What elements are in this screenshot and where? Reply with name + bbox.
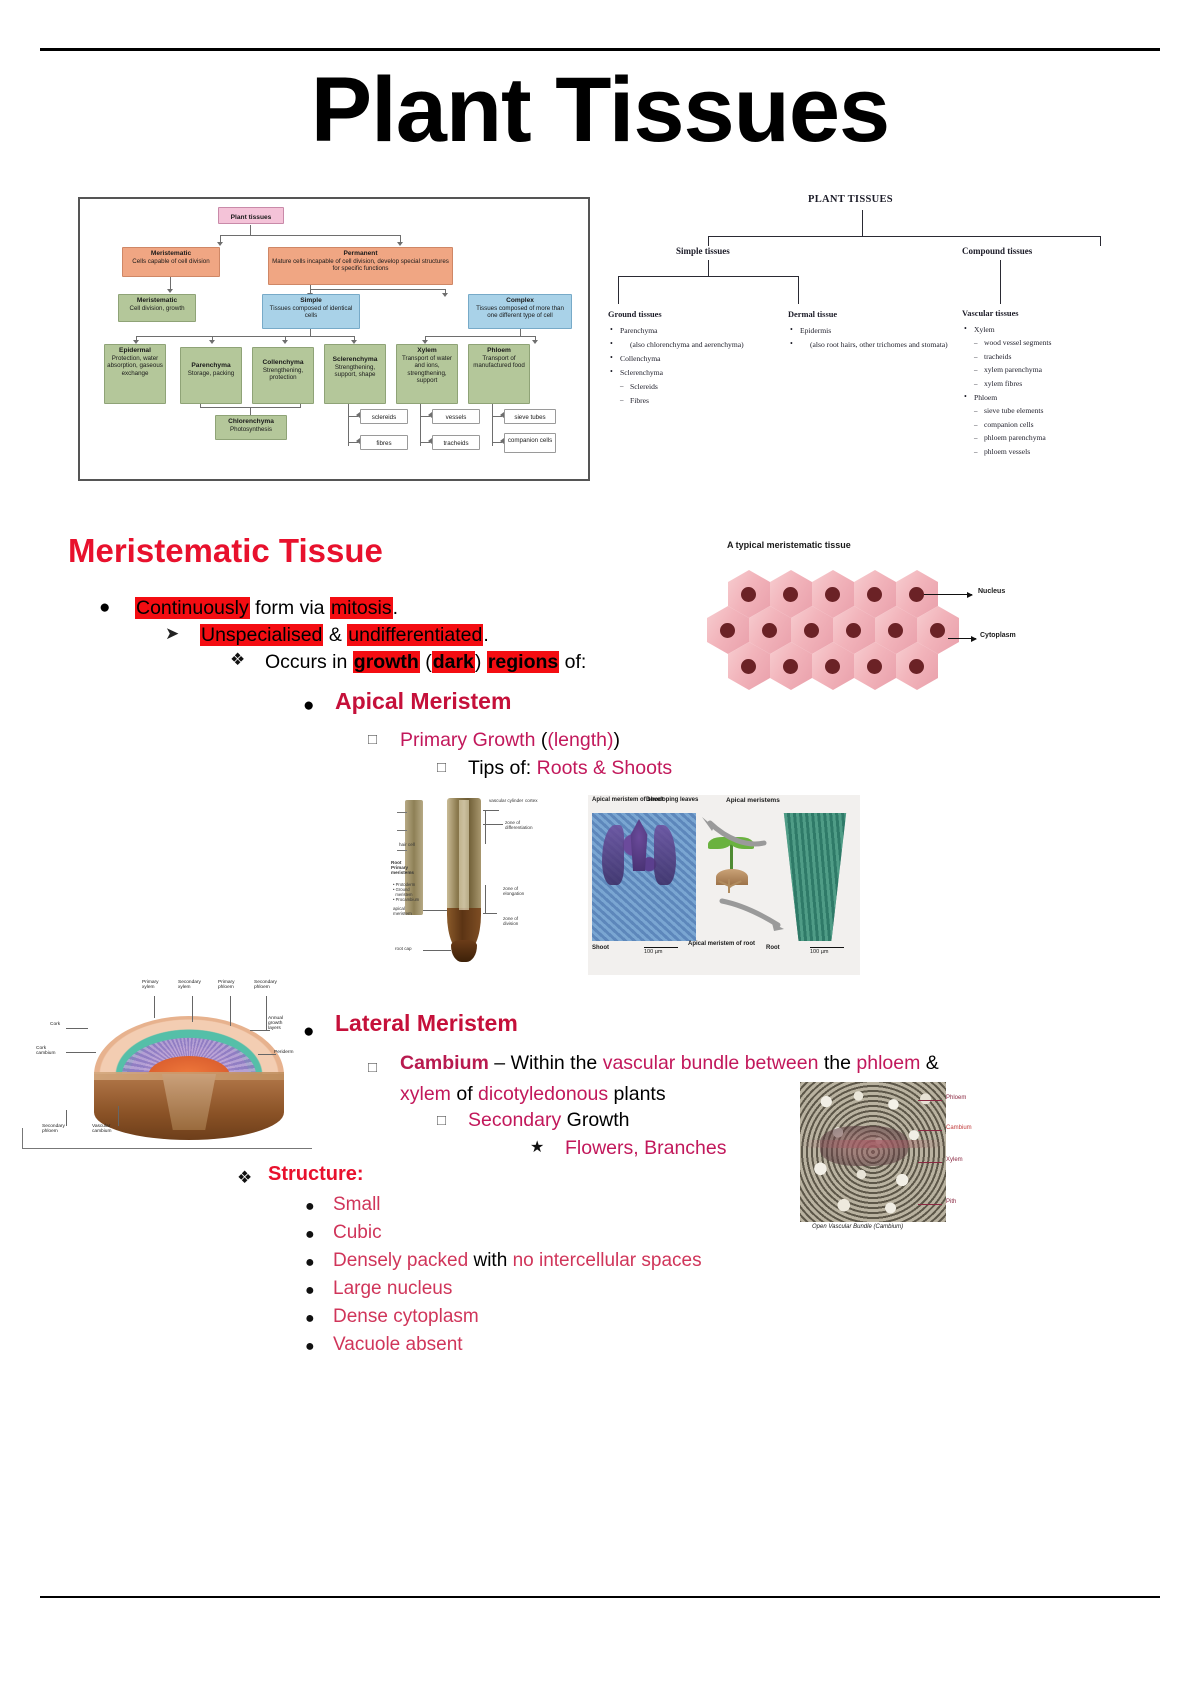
note-text: with: [473, 1250, 507, 1271]
highlight-growth: growth: [353, 651, 420, 673]
note-line-cambium: Cambium – Within the vascular bundle bet…: [400, 1050, 939, 1076]
list-item: tracheids: [962, 351, 1122, 364]
flow-node-phloem: Phloem Transport of manufactured food: [468, 344, 530, 404]
bullet-marker: ●: [305, 1310, 315, 1328]
note-text-xylem: xylem: [400, 1083, 451, 1105]
note-text-vascular-bundle: vascular bundle between: [603, 1052, 819, 1074]
highlight-unspecialised: Unspecialised: [200, 624, 323, 646]
list-item: phloem parenchyma: [962, 432, 1122, 445]
tree-dermal-heading: Dermal tissue: [788, 308, 948, 321]
tree-root-title: PLANT TISSUES: [808, 194, 893, 205]
structure-item-vacuole-absent: Vacuole absent: [333, 1334, 463, 1356]
bullet-marker-arrow: ➤: [165, 624, 179, 644]
note-period: .: [393, 597, 398, 619]
diagram-caption: A typical meristematic tissue: [727, 540, 851, 550]
flow-node-permanent: Permanent Mature cells incapable of cell…: [268, 247, 453, 285]
label-xylem: Xylem: [946, 1157, 963, 1163]
flow-node-collenchyma: Collenchyma Strengthening, protection: [252, 347, 314, 404]
flow-node-epidermal: Epidermal Protection, water absorption, …: [104, 344, 166, 404]
tree-vascular-heading: Vascular tissues: [962, 308, 1122, 321]
label-root-apical-meristem: Apical meristem of root: [688, 941, 755, 947]
bullet-marker-square: □: [437, 1112, 446, 1129]
bullet-marker-star: ★: [530, 1137, 544, 1157]
label-developing-leaves: Developing leaves: [646, 797, 698, 803]
highlight-mitosis: mitosis: [330, 597, 393, 619]
note-text-secondary: Secondary: [468, 1109, 561, 1131]
label-root: Root: [766, 945, 780, 951]
label-pith: Pith: [946, 1199, 956, 1205]
highlight-regions: regions: [487, 651, 559, 673]
note-line-occurs: Occurs in growth (dark) regions of:: [265, 649, 586, 675]
flow-node-sclerenchyma: Sclerenchyma Strengthening, support, sha…: [324, 344, 386, 404]
dash: –: [494, 1052, 505, 1074]
note-text-dicotyledonous: dicotyledonous: [478, 1083, 608, 1105]
document-page: Plant Tissues Plant tissues Meristematic…: [0, 0, 1200, 1700]
list-item: phloem vessels: [962, 446, 1122, 459]
bullet-marker-square: □: [437, 759, 446, 776]
list-item: Parenchyma: [608, 324, 788, 337]
header-rule: [40, 48, 1160, 51]
note-text: form via: [255, 597, 324, 619]
note-line-unspecialised: Unspecialised & undifferentiated.: [200, 622, 489, 648]
note-paren: (dark): [425, 651, 481, 673]
note-text: Growth: [567, 1109, 630, 1131]
note-text-roots-shoots: Roots & Shoots: [537, 757, 673, 779]
list-item: Collenchyma: [608, 352, 788, 365]
label-cambium: Cambium: [946, 1125, 972, 1131]
note-line-continuously: Continuously form via mitosis.: [135, 595, 398, 621]
tree-col-vascular: Vascular tissues Xylem wood vessel segme…: [962, 308, 1122, 460]
flow-node-chlorenchyma: Chlorenchyma Photosynthesis: [215, 415, 287, 440]
bullet-marker: ●: [305, 1254, 315, 1272]
note-text: of:: [565, 651, 587, 673]
list-item: Phloem: [962, 392, 1122, 405]
note-text-phloem: phloem: [856, 1052, 920, 1074]
bullet-marker-diamond: ❖: [230, 650, 245, 670]
note-text: of: [456, 1083, 472, 1105]
subheading-apical-meristem: Apical Meristem: [335, 688, 511, 715]
bullet-marker: ●: [305, 1338, 315, 1356]
list-item: Epidermis: [788, 324, 948, 337]
section-heading-meristematic: Meristematic Tissue: [68, 532, 383, 570]
note-text-length: (length): [547, 729, 613, 751]
note-text: plants: [614, 1083, 666, 1105]
flow-leaf-tracheids: tracheids: [432, 435, 480, 450]
note-text: Occurs in: [265, 651, 347, 673]
meristematic-tissue-diagram: A typical meristematic tissue: [700, 530, 1030, 690]
label-nucleus: Nucleus: [978, 588, 1005, 595]
list-item: Sclerenchyma: [608, 366, 788, 379]
note-line-tips-of: Tips of: Roots & Shoots: [468, 755, 672, 781]
structure-item-large-nucleus: Large nucleus: [333, 1278, 452, 1300]
label-shoot: Shoot: [592, 945, 609, 951]
bullet-marker: ●: [305, 1198, 315, 1216]
root-tip-diagram: vascular cylinder cortex zone ofdifferen…: [385, 790, 565, 975]
scale-bar-root: 100 µm: [810, 949, 828, 955]
label-phloem: Phloem: [946, 1095, 966, 1101]
bullet-marker: ●: [303, 695, 314, 717]
label-apical-meristems-title: Apical meristems: [726, 797, 780, 804]
flow-leaf-sieve-tubes: sieve tubes: [504, 409, 556, 424]
note-line-xylem: xylem of dicotyledonous plants: [400, 1081, 666, 1107]
flow-node-complex: Complex Tissues composed of more than on…: [468, 294, 572, 329]
tree-ground-parenthetical: (also chlorenchyma and aerenchyma): [608, 338, 788, 351]
flow-leaf-sclereids: sclereids: [360, 409, 408, 424]
bullet-marker-square: □: [368, 731, 377, 748]
list-item: sieve tube elements: [962, 405, 1122, 418]
note-text: Tips of:: [468, 757, 531, 779]
list-item: Fibres: [608, 394, 788, 407]
flow-node-xylem: Xylem Transport of water and ions, stren…: [396, 344, 458, 404]
tree-dermal-parenthetical: (also root hairs, other trichomes and st…: [788, 338, 948, 351]
note-text: Within the: [511, 1052, 598, 1074]
bullet-marker: ●: [99, 597, 110, 619]
structure-item-dense-cytoplasm: Dense cytoplasm: [333, 1306, 479, 1328]
tree-branch-simple: Simple tissues: [676, 246, 730, 256]
structure-item-cubic: Cubic: [333, 1222, 382, 1244]
tree-col-dermal: Dermal tissue Epidermis (also root hairs…: [788, 308, 948, 352]
bullet-marker-diamond: ❖: [237, 1168, 252, 1188]
list-item: xylem fibres: [962, 378, 1122, 391]
plant-tissues-tree: PLANT TISSUES Simple tissues Compound ti…: [600, 190, 1120, 510]
flow-node-simple: Simple Tissues composed of identical cel…: [262, 294, 360, 329]
note-line-secondary-growth: Secondary Growth: [468, 1107, 630, 1133]
vascular-bundle-micrograph: Phloem Cambium Xylem Pith Open Vascular …: [800, 1082, 980, 1240]
scale-bar-shoot: 100 µm: [644, 949, 662, 955]
list-item: companion cells: [962, 419, 1122, 432]
flow-leaf-companion-cells: companion cells: [504, 433, 556, 453]
note-text: the: [824, 1052, 851, 1074]
note-period: .: [483, 624, 488, 646]
bullet-marker: ●: [305, 1282, 315, 1300]
tree-ground-heading: Ground tissues: [608, 308, 788, 321]
apical-meristems-figure: Apical meristem of shoot Developing leav…: [588, 795, 860, 975]
flow-node-root: Plant tissues: [218, 207, 284, 224]
list-item: Xylem: [962, 324, 1122, 337]
list-item: wood vessel segments: [962, 337, 1122, 350]
tree-branch-compound: Compound tissues: [962, 246, 1032, 256]
structure-item-small: Small: [333, 1194, 381, 1216]
bullet-marker-square: □: [368, 1059, 377, 1076]
bullet-marker: ●: [305, 1226, 315, 1244]
footer-rule: [40, 1596, 1160, 1598]
note-paren: ((length)): [541, 729, 620, 751]
flow-node-meristematic-sub: Meristematic Cell division, growth: [118, 294, 196, 322]
subheading-lateral-meristem: Lateral Meristem: [335, 1010, 518, 1037]
flow-leaf-vessels: vessels: [432, 409, 480, 424]
list-item: xylem parenchyma: [962, 364, 1122, 377]
flow-node-meristematic: Meristematic Cells capable of cell divis…: [122, 247, 220, 277]
micrograph-caption: Open Vascular Bundle (Cambium): [812, 1224, 903, 1230]
plant-tissues-flowchart: Plant tissues Meristematic Cells capable…: [78, 197, 590, 481]
flow-node-parenchyma: Parenchyma Storage, packing: [180, 347, 242, 404]
highlight-undifferentiated: undifferentiated: [347, 624, 483, 646]
tree-col-ground: Ground tissues Parenchyma (also chlorenc…: [608, 308, 788, 408]
flow-leaf-fibres: fibres: [360, 435, 408, 450]
note-text: &: [329, 624, 342, 646]
note-text: no intercellular spaces: [513, 1250, 702, 1271]
label-cambium: Cambium: [400, 1052, 489, 1074]
stem-cross-section-diagram: Primaryxylem Secondaryxylem Primaryphloe…: [22, 978, 317, 1168]
note-text: Densely packed: [333, 1250, 468, 1271]
note-text: &: [926, 1052, 939, 1074]
page-title: Plant Tissues: [0, 62, 1200, 158]
highlight-continuously: Continuously: [135, 597, 250, 619]
label-cytoplasm: Cytoplasm: [980, 632, 1016, 639]
note-text: Primary Growth: [400, 729, 535, 751]
note-line-flowers-branches: Flowers, Branches: [565, 1135, 726, 1161]
list-item: Sclereids: [608, 380, 788, 393]
highlight-dark: dark: [432, 651, 475, 673]
structure-item-densely-packed: Densely packed with no intercellular spa…: [333, 1250, 702, 1272]
note-line-primary-growth: Primary Growth ((length)): [400, 727, 620, 753]
